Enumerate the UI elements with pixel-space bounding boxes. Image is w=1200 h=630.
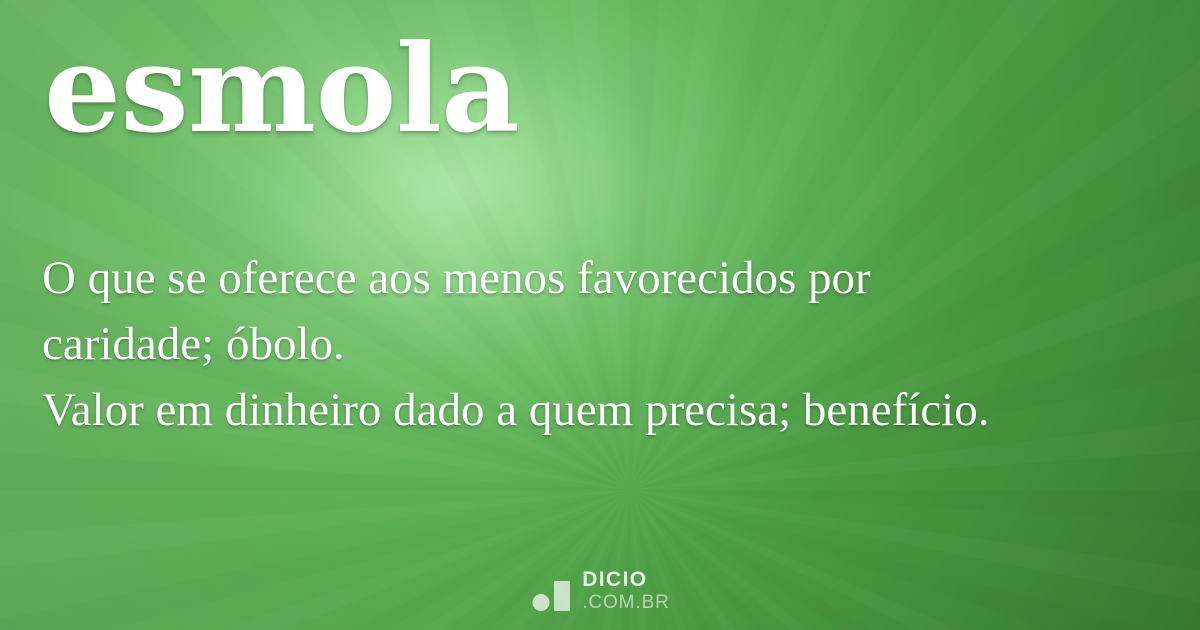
card-content: esmola O que se oferece aos menos favore… xyxy=(0,0,1200,630)
definition-item: O que se oferece aos menos favorecidos p… xyxy=(42,245,1052,377)
definition-item: Valor em dinheiro dado a quem precisa; b… xyxy=(42,377,1052,443)
brand-tld: .COM.BR xyxy=(582,593,670,612)
definition-list: O que se oferece aos menos favorecidos p… xyxy=(42,245,1052,443)
dicio-logo-mark-icon xyxy=(530,578,570,612)
brand-name: DICIO xyxy=(582,569,647,590)
word-title: esmola xyxy=(44,28,519,149)
brand-logo: DICIO .COM.BR xyxy=(0,569,1200,612)
brand-wordmark: DICIO .COM.BR xyxy=(582,569,670,612)
word-definition-card: esmola O que se oferece aos menos favore… xyxy=(0,0,1200,630)
